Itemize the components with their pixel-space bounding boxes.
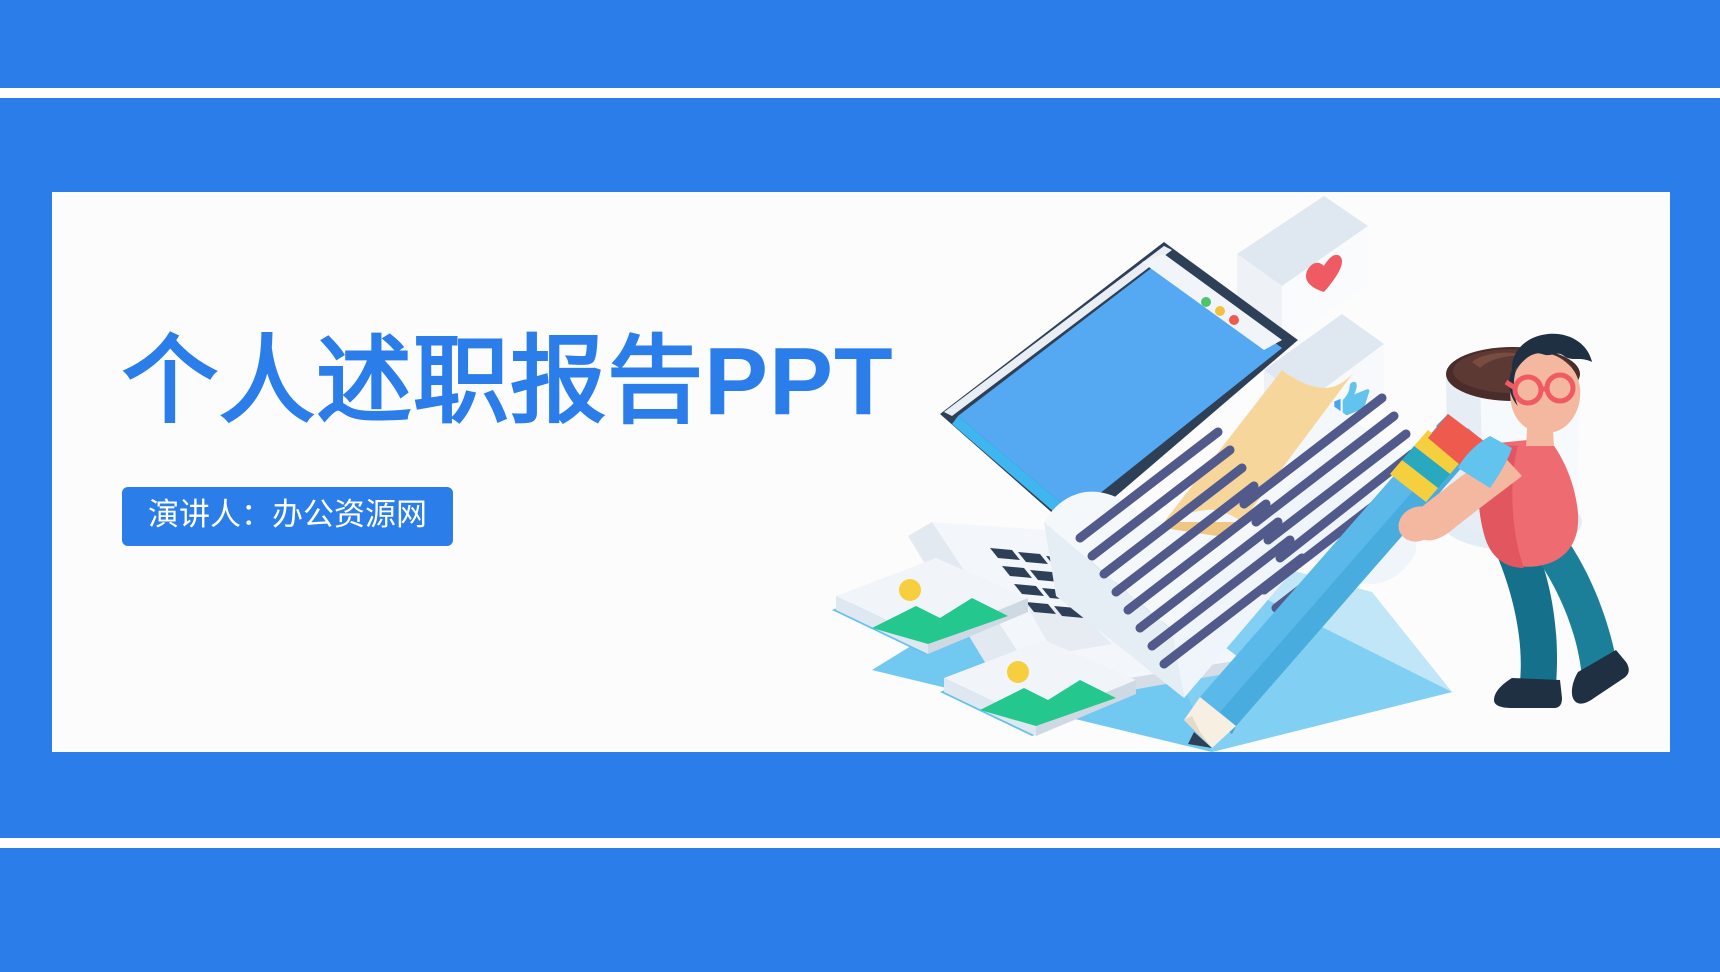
bottom-divider-rule (0, 838, 1720, 848)
top-divider-rule (0, 88, 1720, 98)
person-with-glasses-holding-pencil (1393, 334, 1629, 708)
presenter-badge: 演讲人：办公资源网 (122, 487, 453, 546)
page-title: 个人述职报告PPT (122, 332, 902, 433)
slide-root: 个人述职报告PPT 演讲人：办公资源网 (0, 0, 1720, 972)
content-card: 个人述职报告PPT 演讲人：办公资源网 (52, 192, 1670, 752)
hero-illustration (812, 192, 1672, 752)
title-block: 个人述职报告PPT 演讲人：办公资源网 (122, 332, 902, 546)
